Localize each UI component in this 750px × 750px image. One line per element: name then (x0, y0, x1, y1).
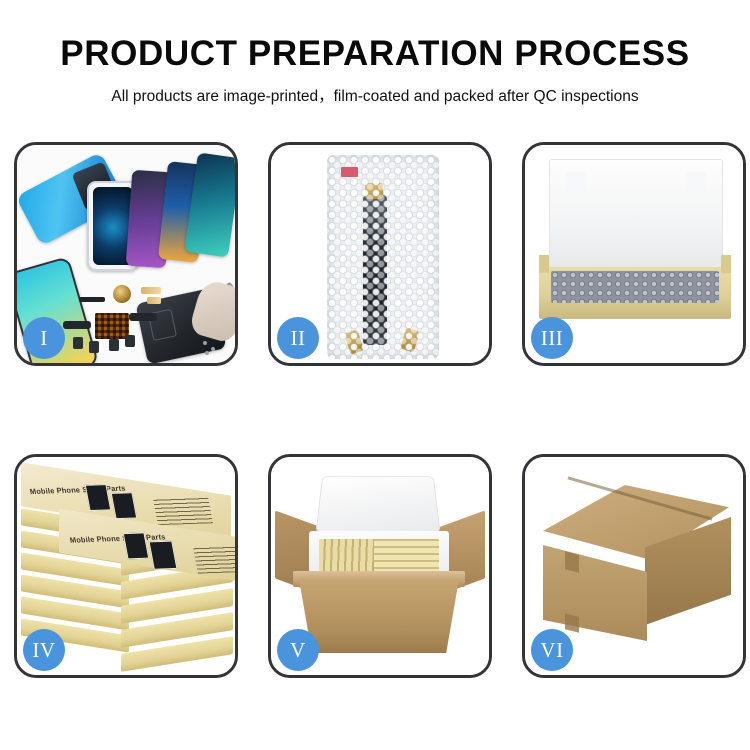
tray-lip-left (539, 255, 549, 273)
lid-flap-right (686, 172, 706, 192)
pink-label-sticker (341, 167, 358, 177)
tray-lip-right (721, 255, 731, 273)
small-component (109, 339, 119, 351)
flex-cable-part (129, 313, 157, 321)
bubble-wrap-bag (327, 155, 439, 359)
box-label-spec-lines (193, 545, 235, 573)
step-badge-2: II (277, 317, 319, 359)
grey-foam-filler (551, 271, 719, 303)
box-label-screen-image (111, 492, 138, 519)
flex-cable-part (63, 321, 91, 329)
lid-flap-left (566, 172, 586, 192)
carton-front-face (543, 545, 647, 641)
step-badge-4: IV (23, 629, 65, 671)
header: PRODUCT PREPARATION PROCESS All products… (0, 0, 750, 125)
step-panel-1: I (14, 142, 238, 366)
carton-tape-mark (565, 551, 579, 572)
step-panel-5: V (268, 454, 492, 678)
small-component (73, 337, 83, 349)
step-badge-5: V (277, 629, 319, 671)
small-component (89, 341, 99, 353)
product-preparation-infographic: PRODUCT PREPARATION PROCESS All products… (0, 0, 750, 750)
box-label-spec-lines (153, 497, 213, 525)
step-panel-3: III (522, 142, 746, 366)
styrofoam-lid (315, 476, 440, 533)
gold-bracket-part (141, 287, 161, 294)
page-title: PRODUCT PREPARATION PROCESS (0, 34, 750, 74)
screw (205, 351, 209, 355)
screw (203, 341, 207, 345)
gold-bracket-part (147, 297, 161, 304)
box-label-screen-image (149, 541, 178, 570)
page-subtitle: All products are image-printed，film-coat… (0, 84, 750, 106)
step-badge-1: I (23, 317, 65, 359)
bubble-texture-overlay (327, 155, 439, 359)
speaker-mesh-part (79, 297, 105, 302)
step-panel-2: II (268, 142, 492, 366)
white-box-lid (549, 159, 723, 277)
kraft-tray-base (539, 267, 731, 319)
steps-grid: I II (0, 132, 750, 692)
step-panel-4: Mobile Phone Spare Parts Mobile Phone Sp… (14, 454, 238, 678)
shield-grid-part (95, 313, 129, 339)
step-badge-3: III (531, 317, 573, 359)
carton-body (299, 579, 459, 653)
step-panel-6: VI (522, 454, 746, 678)
small-component (125, 335, 135, 347)
carton-tape-mark (565, 613, 579, 632)
wireless-charging-coil (113, 285, 131, 303)
screw (211, 347, 215, 351)
step-badge-6: VI (531, 629, 573, 671)
